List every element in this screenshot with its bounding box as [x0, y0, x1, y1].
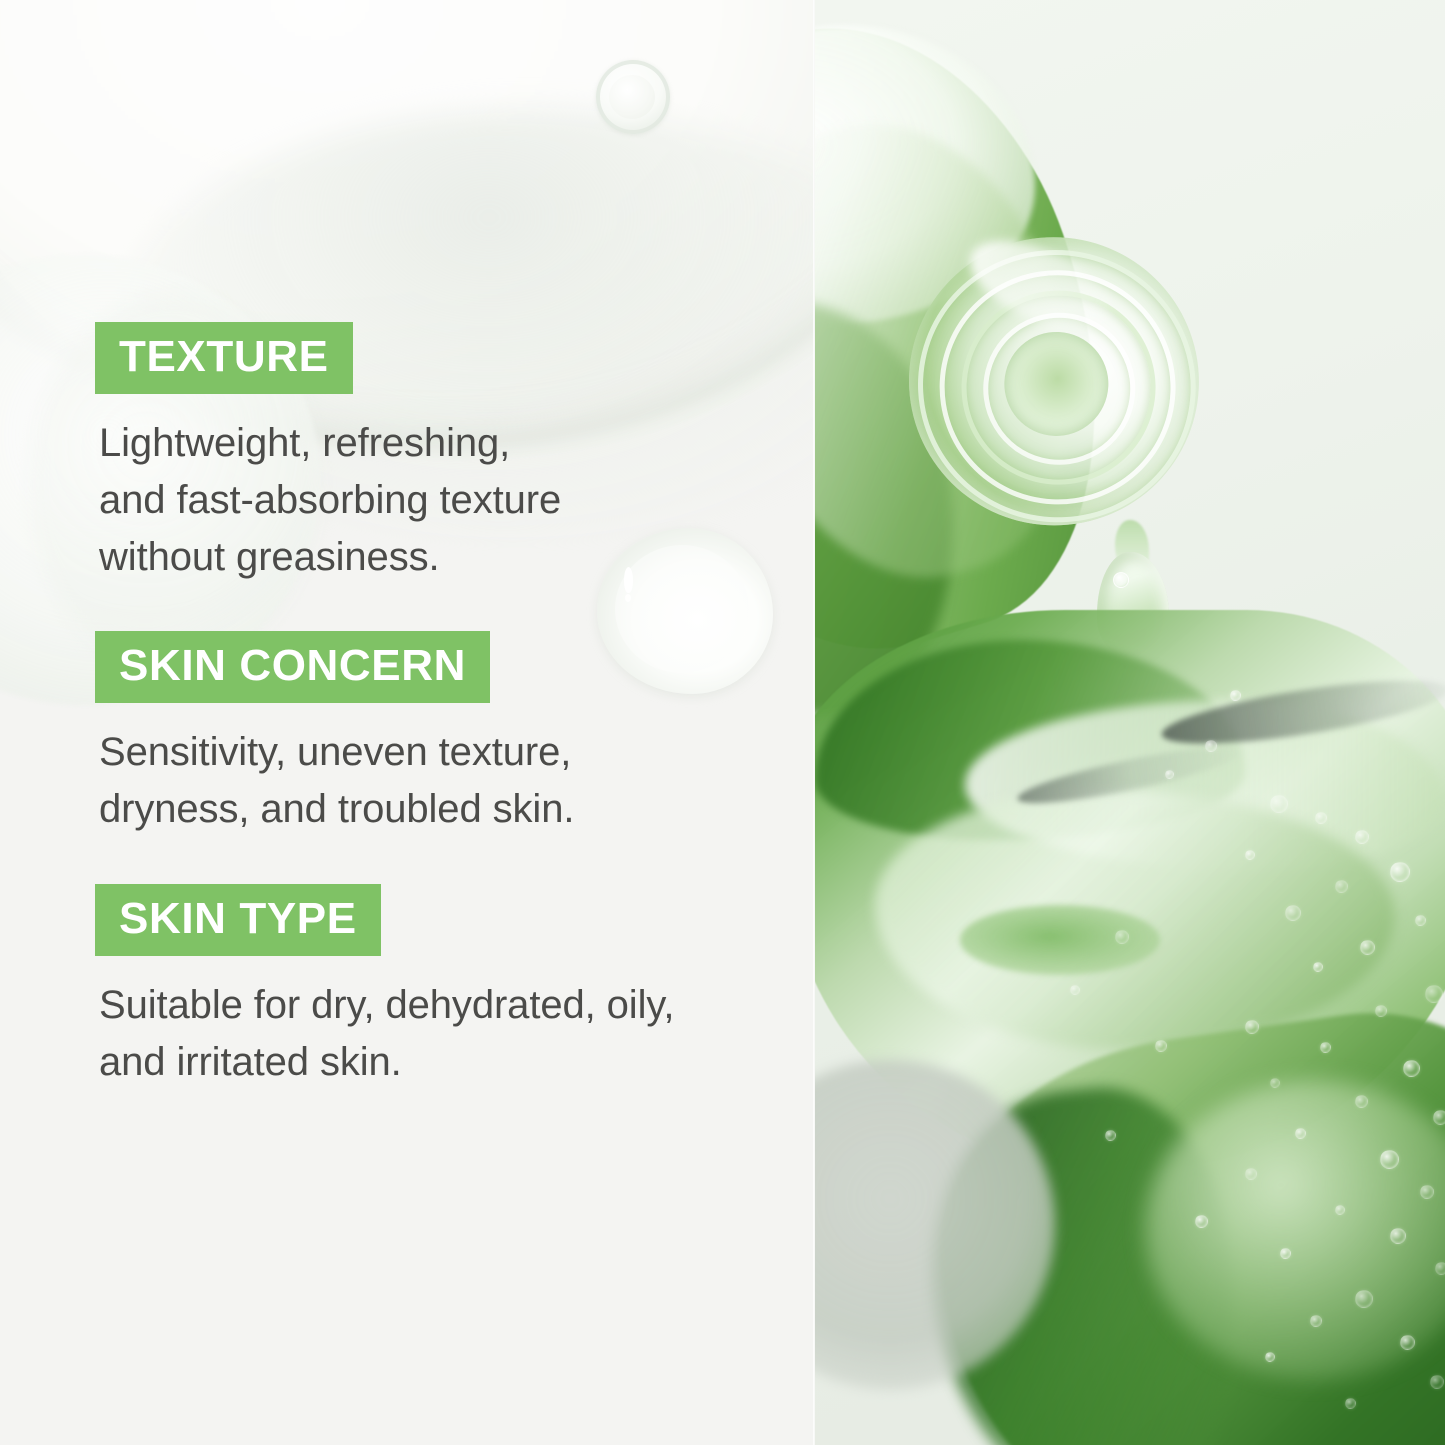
gel-bubble	[1415, 915, 1426, 926]
gel-bubble	[1390, 862, 1410, 882]
gel-bubble	[1425, 985, 1443, 1003]
badge-skin-type: SKIN TYPE	[95, 884, 381, 956]
feature-list: TEXTURE Lightweight, refreshing, and fas…	[95, 322, 795, 1091]
gel-bubble	[1355, 1290, 1373, 1308]
gel-bubble	[1195, 1215, 1208, 1228]
gel-bubble	[1205, 740, 1217, 752]
gel-bubble	[1380, 1150, 1399, 1169]
product-photo	[815, 0, 1445, 1445]
gel-bubble	[1265, 1352, 1275, 1362]
gel-bubble	[1105, 1130, 1116, 1141]
gel-bubble	[1285, 905, 1301, 921]
gel-bubble	[1355, 1095, 1368, 1108]
gel-bubble	[1433, 1110, 1445, 1125]
product-feature-card: TEXTURE Lightweight, refreshing, and fas…	[0, 0, 1445, 1445]
gel-bubble	[1400, 1335, 1415, 1350]
gel-bubble	[1390, 1228, 1406, 1244]
gel-bubble	[1403, 1060, 1420, 1077]
gel-bubble	[1335, 880, 1348, 893]
gel-bubble	[1155, 1040, 1167, 1052]
gel-bubble	[1270, 1078, 1280, 1088]
gel-pool-green-oval	[960, 905, 1160, 975]
badge-texture: TEXTURE	[95, 322, 353, 394]
gel-bubble	[1295, 1128, 1306, 1139]
gel-bubble	[1315, 812, 1327, 824]
gel-bubble	[1375, 1005, 1387, 1017]
gel-bubble	[1070, 985, 1080, 995]
badge-skin-concern: SKIN CONCERN	[95, 631, 490, 703]
gel-bubble	[1310, 1315, 1322, 1327]
gel-bubble	[1245, 850, 1255, 860]
gel-bubble	[1335, 1205, 1345, 1215]
gel-bubble	[1165, 770, 1174, 779]
gel-bubble	[1245, 1168, 1257, 1180]
feature-block-skin-concern: SKIN CONCERN Sensitivity, uneven texture…	[95, 631, 795, 838]
gel-bubble	[1115, 930, 1129, 944]
description-skin-type: Suitable for dry, dehydrated, oily, and …	[99, 977, 795, 1091]
description-skin-concern: Sensitivity, uneven texture, dryness, an…	[99, 724, 795, 838]
gel-bubble	[1313, 962, 1323, 972]
left-info-panel: TEXTURE Lightweight, refreshing, and fas…	[0, 0, 815, 1445]
gel-bubble	[1355, 830, 1369, 844]
gel-bubble	[1270, 795, 1288, 813]
gel-bubble	[1360, 940, 1375, 955]
gel-bubble	[1345, 1398, 1356, 1409]
feature-block-texture: TEXTURE Lightweight, refreshing, and fas…	[95, 322, 795, 585]
gel-ring-droplet-core	[609, 75, 655, 119]
gel-bubble	[1245, 1020, 1259, 1034]
gel-bubble	[1320, 1042, 1331, 1053]
gel-bubble	[1280, 1248, 1291, 1259]
feature-block-skin-type: SKIN TYPE Suitable for dry, dehydrated, …	[95, 884, 795, 1091]
description-texture: Lightweight, refreshing, and fast-absorb…	[99, 415, 795, 585]
gel-droplet-bubble	[1113, 572, 1129, 588]
gel-bubble	[1435, 1262, 1445, 1275]
gel-bubble	[1420, 1185, 1434, 1199]
gel-bubble	[1230, 690, 1241, 701]
gel-bubble	[1430, 1375, 1444, 1389]
